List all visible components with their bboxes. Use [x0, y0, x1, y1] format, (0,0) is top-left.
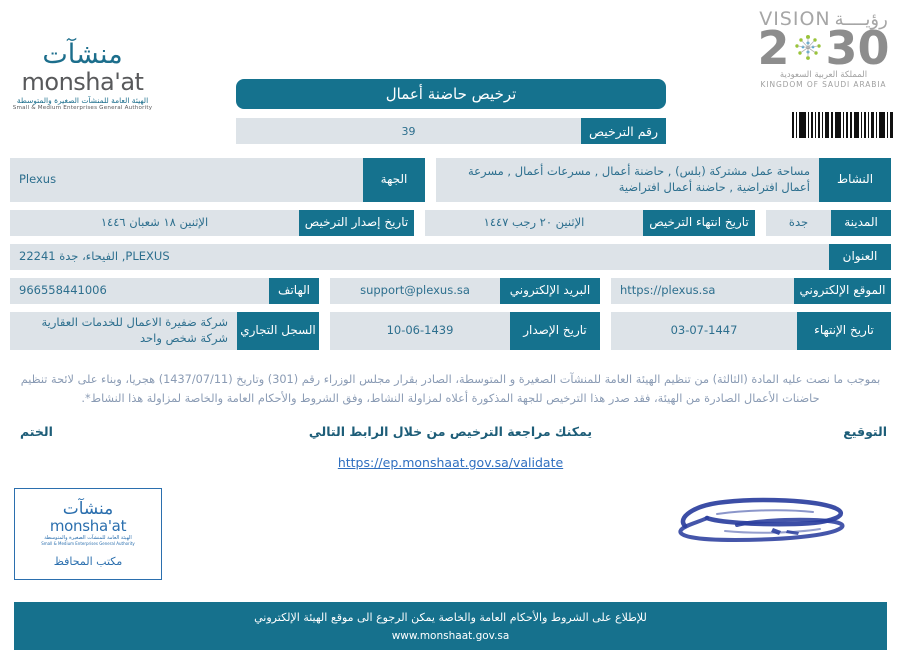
field-email: البريد الإلكتروني support@plexus.sa	[330, 278, 600, 304]
monshaat-name-ar: منشآت	[0, 40, 165, 70]
stamp-authority-en: Small & Medium Enterprises General Autho…	[41, 541, 135, 546]
field-website: الموقع الإلكتروني https://plexus.sa	[611, 278, 891, 304]
field-entity: الجهة Plexus	[10, 158, 425, 202]
field-license-expiry: تاريخ انتهاء الترخيص الإثنين ٢٠ رجب ١٤٤٧	[425, 210, 755, 236]
monshaat-name-en: monsha'at	[0, 70, 165, 94]
field-license-issue-label: تاريخ إصدار الترخيص	[299, 210, 414, 236]
page-title: ترخيص حاضنة أعمال	[236, 79, 666, 109]
field-city-value: جدة	[766, 210, 831, 236]
field-cr-issue-label: تاريخ الإصدار	[510, 312, 600, 350]
field-commercial-registry: السجل التجاري شركة ضفيرة الاعمال للخدمات…	[10, 312, 319, 350]
field-license-issue: تاريخ إصدار الترخيص الإثنين ١٨ شعبان ١٤٤…	[10, 210, 414, 236]
field-phone-value: 966558441006	[10, 278, 269, 304]
field-email-label: البريد الإلكتروني	[500, 278, 600, 304]
field-grid: النشاط مساحة عمل مشتركة (بلس) , حاضنة أع…	[0, 158, 901, 358]
field-activity-value: مساحة عمل مشتركة (بلس) , حاضنة أعمال , م…	[436, 158, 819, 202]
field-cr-issue: تاريخ الإصدار 10-06-1439	[330, 312, 600, 350]
field-phone-label: الهاتف	[269, 278, 319, 304]
field-commercial-registry-label: السجل التجاري	[237, 312, 319, 350]
vision-year: 2	[756, 27, 891, 69]
official-stamp: منشآت monsha'at الهيئة العامة للمنشآت ال…	[14, 488, 162, 580]
field-commercial-registry-value: شركة ضفيرة الاعمال للخدمات العقارية شركة…	[10, 312, 237, 350]
field-activity-label: النشاط	[819, 158, 891, 202]
field-cr-expiry-value: 03-07-1447	[611, 312, 797, 350]
field-address-label: العنوان	[829, 244, 891, 270]
footer-website: www.monshaat.gov.sa	[392, 630, 510, 642]
field-license-expiry-value: الإثنين ٢٠ رجب ١٤٤٧	[425, 210, 643, 236]
license-number-value: 39	[236, 118, 581, 144]
verify-instruction: يمكنك مراجعة الترخيص من خلال الرابط التا…	[0, 424, 901, 439]
field-cr-expiry: تاريخ الإنتهاء 03-07-1447	[611, 312, 891, 350]
verify-link-wrapper: https://ep.monshaat.gov.sa/validate	[0, 455, 901, 470]
vision-2030-logo: VISION رؤيــــة 2	[756, 8, 891, 89]
field-phone: الهاتف 966558441006	[10, 278, 319, 304]
verify-link[interactable]: https://ep.monshaat.gov.sa/validate	[338, 455, 563, 470]
signature-band: التوقيع الختم يمكنك مراجعة الترخيص من خل…	[0, 424, 901, 464]
footer-terms-text: للإطلاع على الشروط والأحكام العامة والخا…	[254, 611, 647, 624]
field-city-label: المدينة	[831, 210, 891, 236]
field-cr-expiry-label: تاريخ الإنتهاء	[797, 312, 891, 350]
handwritten-signature	[655, 478, 875, 558]
field-row-1: النشاط مساحة عمل مشتركة (بلس) , حاضنة أع…	[0, 158, 901, 202]
field-address-value: PLEXUS, الفيحاء، جدة 22241	[10, 244, 829, 270]
license-number-row: رقم الترخيص 39	[236, 118, 666, 144]
field-website-value[interactable]: https://plexus.sa	[611, 278, 794, 304]
license-number-label: رقم الترخيص	[581, 118, 666, 144]
stamp-name-en: monsha'at	[50, 519, 126, 534]
field-city: المدينة جدة	[766, 210, 891, 236]
field-row-4: الموقع الإلكتروني https://plexus.sa البر…	[0, 278, 901, 304]
saudi-palm-icon	[791, 31, 825, 65]
legal-paragraph: بموجب ما نصت عليه المادة (الثالثة) من تن…	[14, 370, 887, 408]
field-license-expiry-label: تاريخ انتهاء الترخيص	[643, 210, 755, 236]
field-website-label: الموقع الإلكتروني	[794, 278, 891, 304]
document-footer: للإطلاع على الشروط والأحكام العامة والخا…	[14, 602, 887, 650]
stamp-office-text: مكتب المحافظ	[54, 555, 123, 568]
field-address: العنوان PLEXUS, الفيحاء، جدة 22241	[10, 244, 891, 270]
field-email-value[interactable]: support@plexus.sa	[330, 278, 500, 304]
field-license-issue-value: الإثنين ١٨ شعبان ١٤٤٦	[10, 210, 299, 236]
field-row-2: المدينة جدة تاريخ انتهاء الترخيص الإثنين…	[0, 210, 901, 236]
monshaat-authority-en: Small & Medium Enterprises General Autho…	[0, 105, 165, 111]
document-header: VISION رؤيــــة 2	[0, 0, 901, 150]
vision-digits-30: 30	[826, 27, 890, 69]
vision-kingdom-en: KINGDOM OF SAUDI ARABIA	[756, 80, 891, 89]
monshaat-logo: منشآت monsha'at الهيئة العامة للمنشآت ال…	[0, 40, 165, 111]
field-activity: النشاط مساحة عمل مشتركة (بلس) , حاضنة أع…	[436, 158, 891, 202]
field-entity-label: الجهة	[363, 158, 425, 202]
vision-digit-2: 2	[757, 27, 789, 69]
barcode	[792, 112, 893, 138]
field-cr-issue-value: 10-06-1439	[330, 312, 510, 350]
monshaat-authority-ar: الهيئة العامة للمنشآت الصغيرة والمتوسطة	[0, 96, 165, 105]
field-row-5: تاريخ الإنتهاء 03-07-1447 تاريخ الإصدار …	[0, 312, 901, 350]
field-entity-value: Plexus	[10, 158, 363, 202]
field-row-3: العنوان PLEXUS, الفيحاء، جدة 22241	[0, 244, 901, 270]
license-document: VISION رؤيــــة 2	[0, 0, 901, 662]
